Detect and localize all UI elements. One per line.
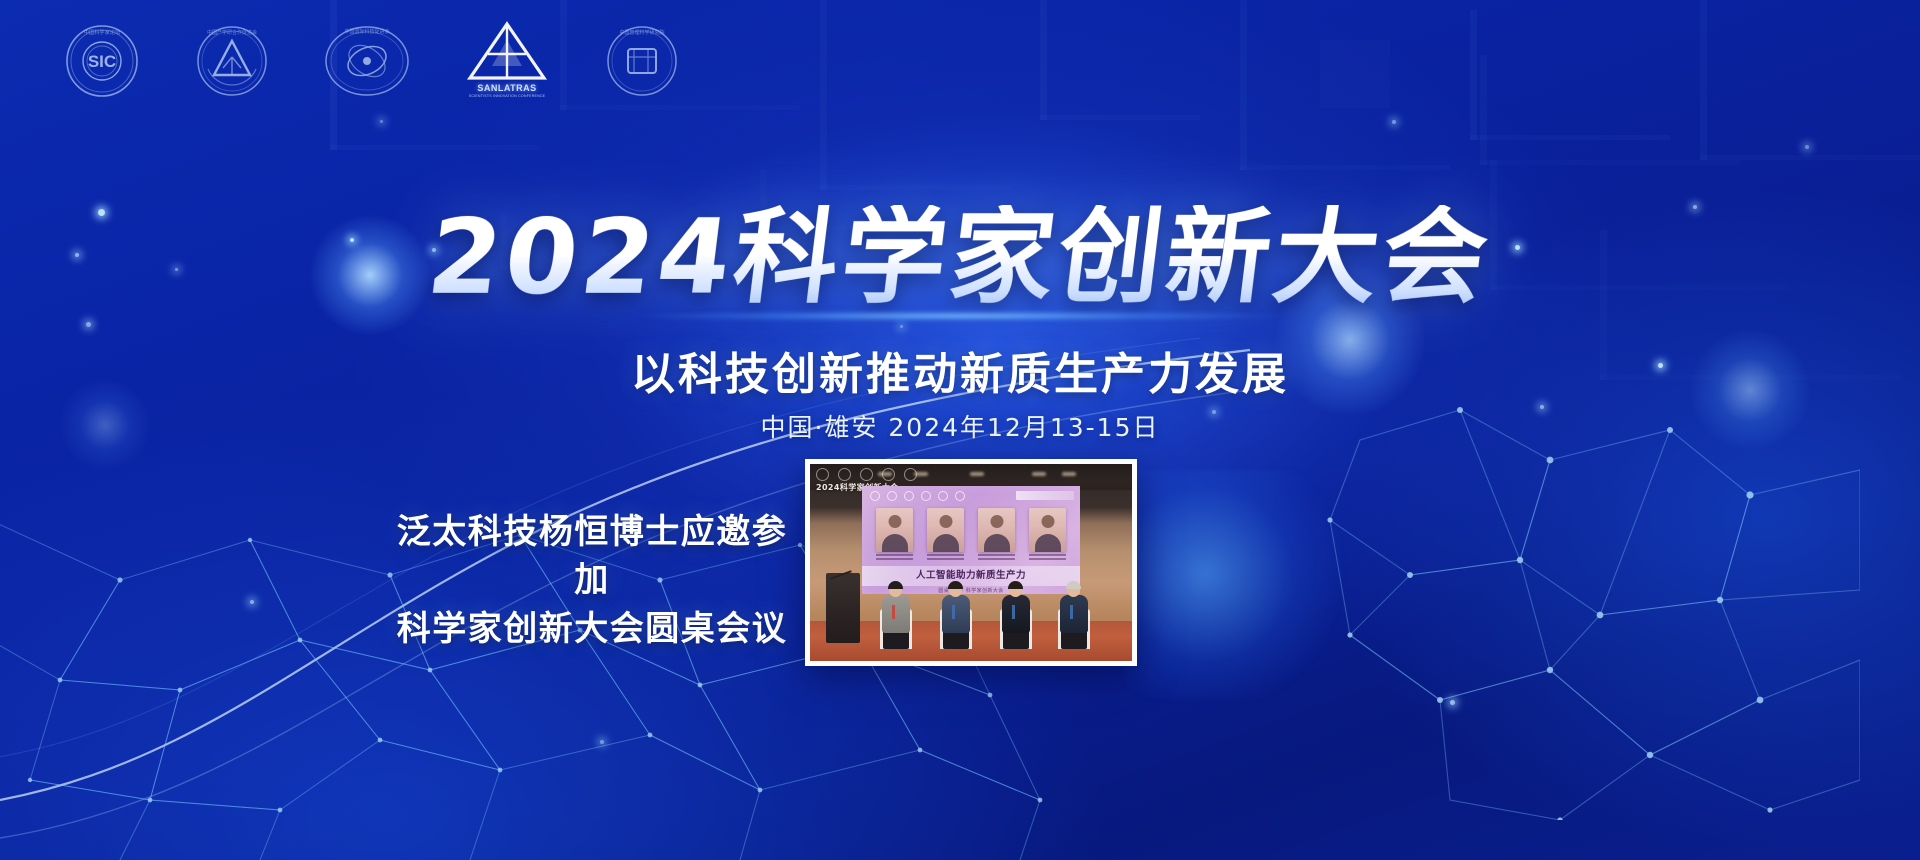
banner-dateline: 中国·雄安 2024年12月13-15日 <box>0 408 1920 444</box>
photo-podium <box>826 573 860 643</box>
event-caption-line1: 泛太科技杨恒博士应邀参加 <box>392 508 792 605</box>
atom-seal-logo: 中国国际科技促进会 <box>324 23 410 99</box>
shield-seal-logo: 中国管理科学研究院 <box>604 23 680 99</box>
triangle-seal-logo: 中国产学研合作促进会 <box>194 23 270 99</box>
organizer-logo-strip: SIC 中国科学家论坛 中国产学研合作促进会 <box>64 20 680 102</box>
conference-banner: SIC 中国科学家论坛 中国产学研合作促进会 <box>0 0 1920 860</box>
svg-text:中国科学家论坛: 中国科学家论坛 <box>84 28 120 36</box>
sanlatras-logo-text: SANLATRAS <box>477 83 536 93</box>
photo-screen-header <box>1016 491 1074 500</box>
sic-seal-logo: SIC 中国科学家论坛 <box>64 23 140 99</box>
banner-subtitle: 以科技创新推动新质生产力发展 <box>0 338 1920 402</box>
photo-screen-headline: 人工智能助力新质生产力 <box>862 567 1080 581</box>
sanlatras-logo: SANLATRAS SCIENTISTS INNOVATION CONFEREN… <box>464 20 550 102</box>
banner-title: 2024科学家创新大会 <box>423 205 1497 309</box>
photo-portrait <box>927 508 964 552</box>
photo-wall-icons <box>816 468 917 481</box>
photo-portrait <box>876 508 913 552</box>
event-caption: 泛太科技杨恒博士应邀参加 科学家创新大会圆桌会议 <box>392 508 792 653</box>
background-network-mesh-right <box>1300 400 1860 820</box>
banner-title-wrap: 2024科学家创新大会 <box>0 205 1920 309</box>
event-photo-inner: 2024科学家创新大会 人工智能助力新质生产力 圆桌论坛 · 科学家创新大会 <box>810 464 1132 661</box>
title-underglow <box>640 311 1280 321</box>
photo-screen-icons <box>870 491 965 501</box>
sanlatras-logo-subtext: SCIENTISTS INNOVATION CONFERENCE <box>469 94 546 98</box>
photo-speaker-names <box>876 554 1066 561</box>
event-photo: 2024科学家创新大会 人工智能助力新质生产力 圆桌论坛 · 科学家创新大会 <box>805 459 1137 666</box>
svg-text:中国国际科技促进会: 中国国际科技促进会 <box>344 28 389 35</box>
event-caption-line2: 科学家创新大会圆桌会议 <box>392 605 792 653</box>
photo-led-screen: 人工智能助力新质生产力 圆桌论坛 · 科学家创新大会 <box>862 486 1080 594</box>
photo-glow <box>1125 470 1355 700</box>
svg-text:中国产学研合作促进会: 中国产学研合作促进会 <box>207 29 257 36</box>
photo-speaker-portraits <box>876 508 1066 552</box>
svg-text:SIC: SIC <box>88 52 116 71</box>
svg-text:中国管理科学研究院: 中国管理科学研究院 <box>619 29 664 36</box>
photo-portrait <box>978 508 1015 552</box>
photo-portrait <box>1029 508 1066 552</box>
